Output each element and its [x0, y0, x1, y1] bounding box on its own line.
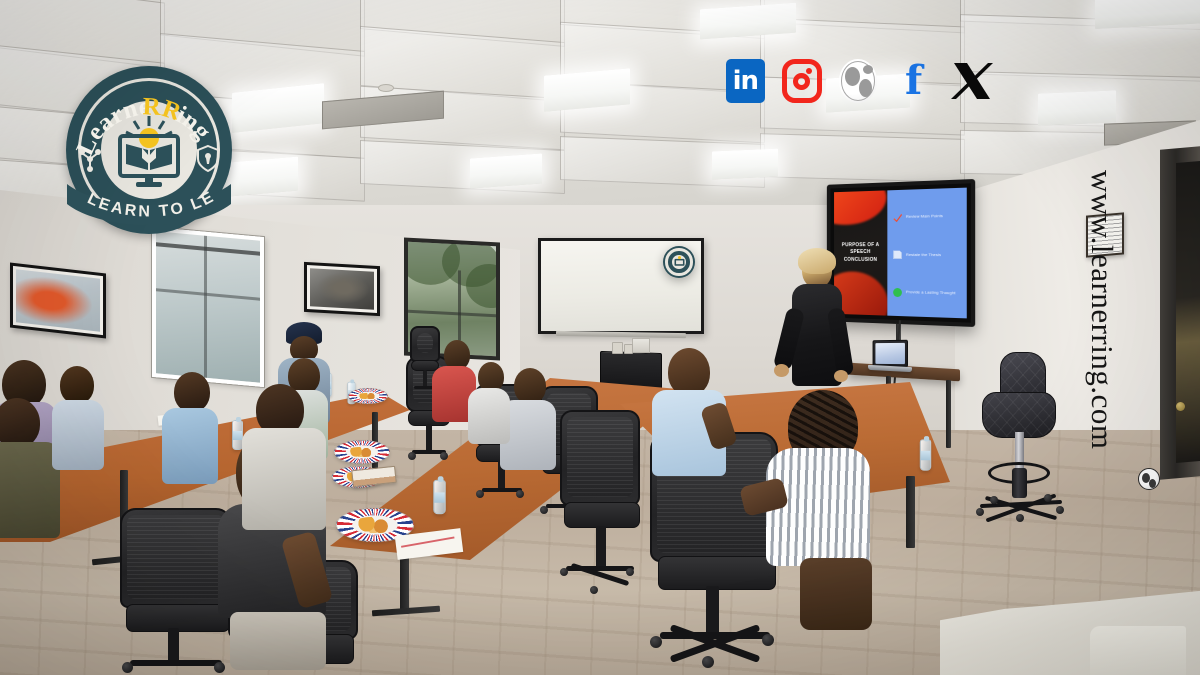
table-leg [906, 476, 915, 548]
slide-bullet-panel: Review Main Points Restate the Thesis Pr… [887, 188, 966, 319]
pen-cup [624, 344, 633, 354]
water-bottle [920, 439, 932, 471]
student-grey-hoodie [238, 384, 334, 544]
water-bottle [433, 480, 446, 515]
presenter-hand-right [834, 370, 848, 382]
slide-bullet-2: Restate the Thesis [893, 250, 961, 259]
x-icon[interactable] [950, 59, 994, 103]
student-torso [162, 408, 218, 484]
office-chair[interactable] [560, 410, 640, 600]
door-knob[interactable] [1176, 402, 1185, 411]
drafting-stool-base [976, 492, 1066, 518]
facebook-icon[interactable]: f [894, 59, 933, 103]
interior-window [152, 227, 264, 387]
student-mid-left-blue [160, 372, 222, 500]
student-head [514, 368, 546, 404]
laptop-screen [873, 340, 908, 367]
framed-helicopter-photo [10, 263, 106, 339]
ceiling-light-panel [470, 153, 542, 188]
paper-plate [348, 388, 388, 404]
learnerring-logo: Learne RR ing [66, 66, 232, 234]
student-torso [0, 442, 60, 538]
slide-bullet-1: Review Main Points [893, 212, 961, 222]
slide-bullet-3: Provide a Lasting Thought [893, 288, 961, 299]
instagram-icon[interactable] [782, 59, 822, 103]
student-head [60, 366, 94, 404]
ceiling-light-panel [544, 68, 630, 112]
whiteboard [538, 238, 704, 334]
framed-aircraft-photo [304, 262, 380, 316]
paper-plate [334, 440, 390, 464]
website-url: www.learnerring.com [1084, 170, 1120, 450]
check-icon [893, 213, 902, 222]
presenter-table-leg [946, 380, 951, 448]
student-head [0, 398, 40, 448]
classroom-photo: PURPOSE OF A SPEECH CONCLUSION Review Ma… [0, 0, 1200, 675]
student-head [668, 348, 710, 396]
student-foreground-right [744, 390, 876, 640]
globe-icon[interactable] [839, 59, 878, 103]
globe-icon [1138, 468, 1160, 490]
ceiling-light-panel [712, 149, 778, 180]
presenter-hair [798, 248, 836, 274]
social-icon-bar: in f [726, 54, 994, 108]
student-head [174, 372, 210, 412]
ceiling-light-panel [1038, 90, 1116, 125]
student-shorts [230, 612, 326, 670]
student-legs [800, 558, 872, 630]
pen-cup [612, 342, 623, 354]
student-torso [242, 428, 326, 530]
student-white-shirt [468, 362, 512, 452]
student-left-edge-3 [52, 366, 110, 486]
student-torso [52, 400, 104, 470]
student-light-blue-shirt [646, 348, 732, 498]
smoke-detector-icon [378, 84, 394, 92]
green-dot-icon [893, 288, 902, 297]
student-torso [468, 388, 510, 444]
linkedin-icon[interactable]: in [726, 59, 765, 103]
document-icon [893, 250, 902, 259]
office-door[interactable] [1176, 161, 1200, 463]
presenter-hand-left [774, 364, 789, 377]
whiteboard-logo-badge [663, 246, 695, 278]
